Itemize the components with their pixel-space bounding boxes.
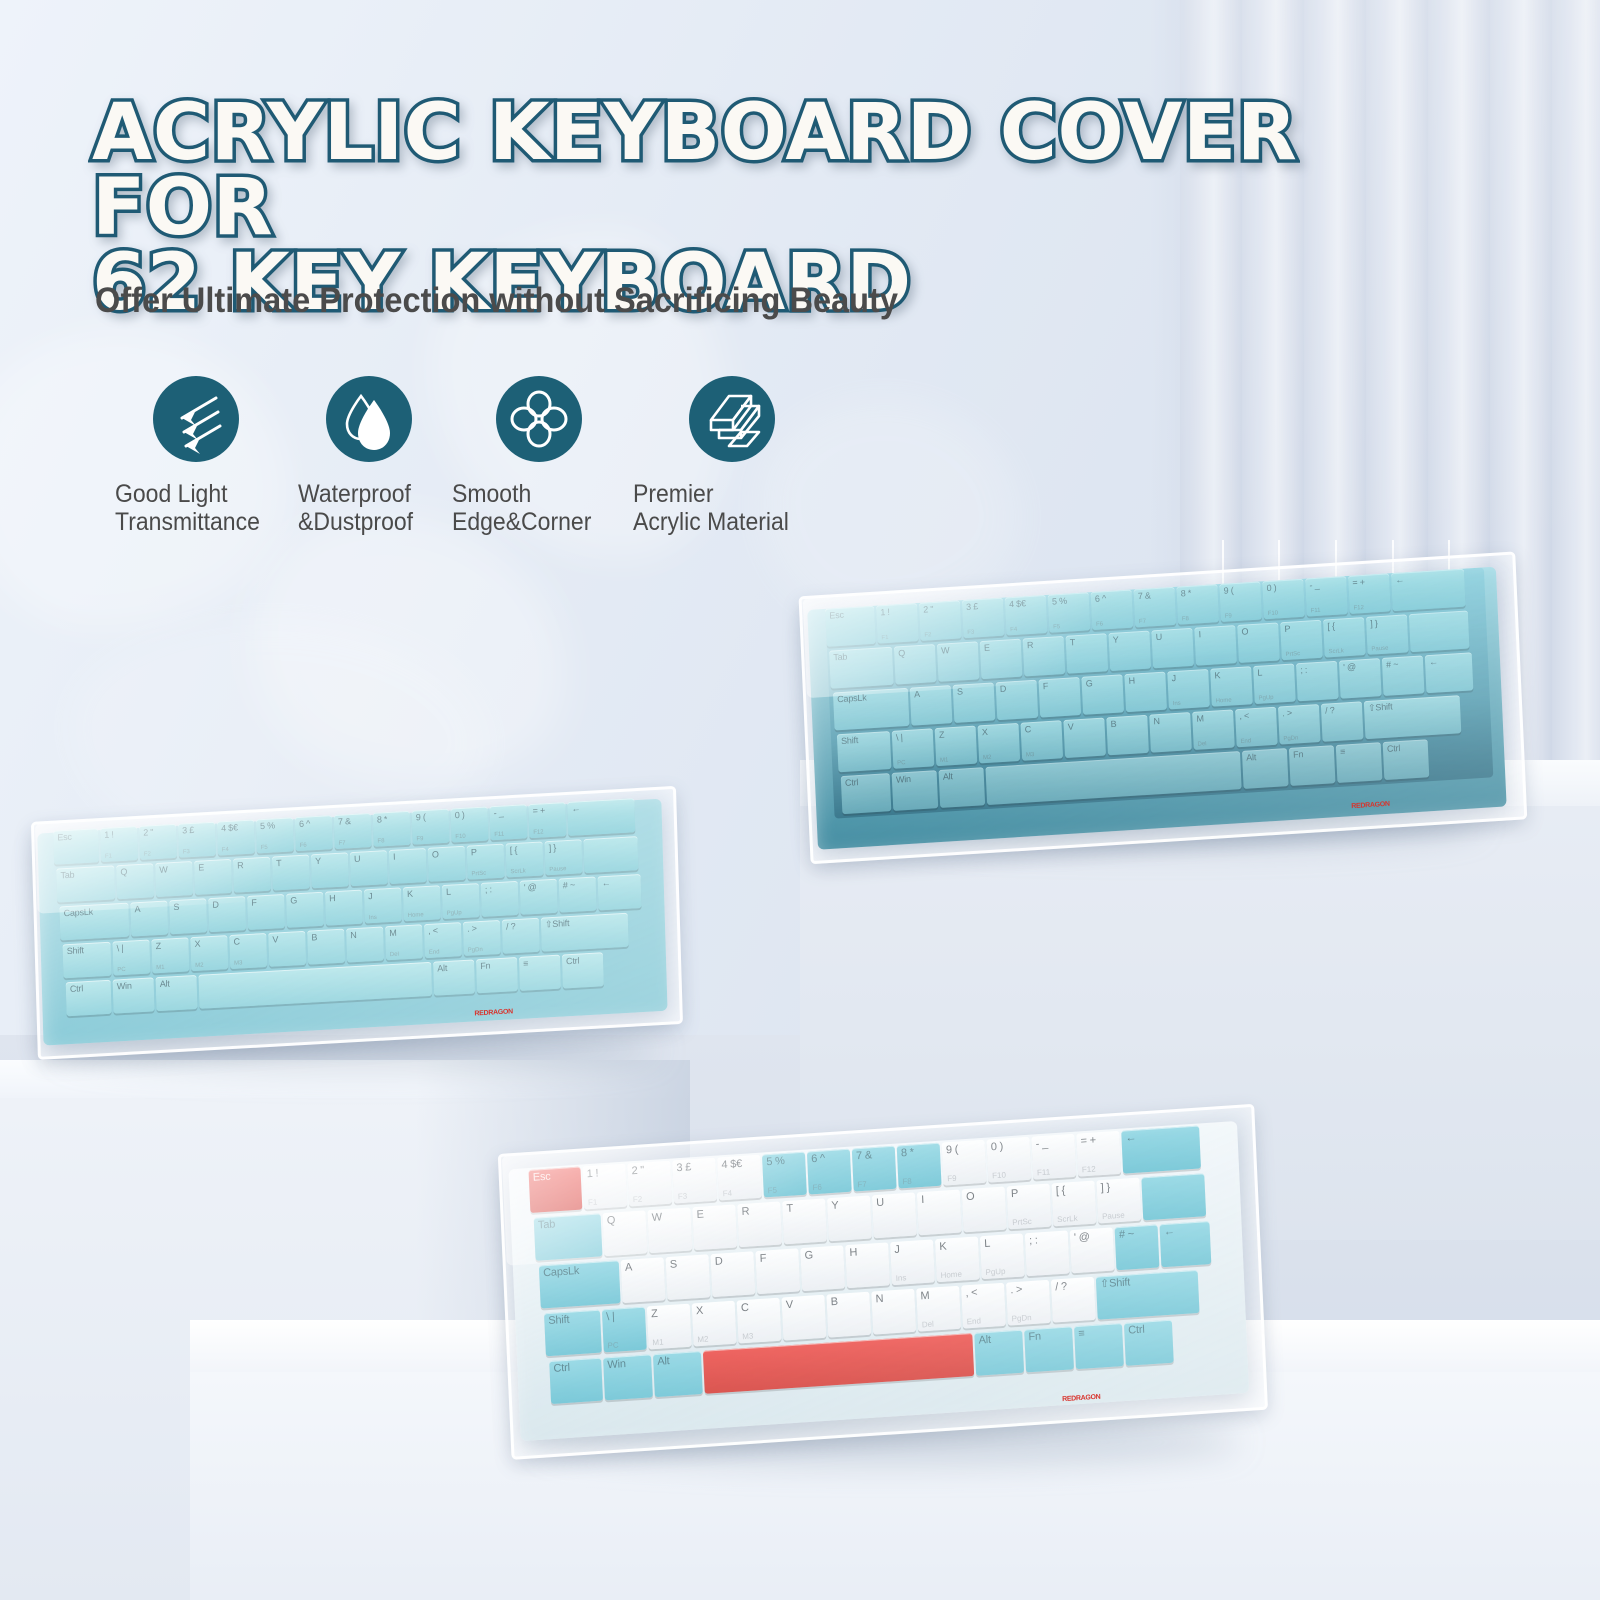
keycap-legend: S: [169, 900, 179, 913]
keycap[interactable]: 4 $€F4: [1005, 595, 1048, 636]
keycap-legend: ←: [567, 801, 580, 814]
keycap[interactable]: . >PgDn: [1006, 1280, 1051, 1326]
keycap[interactable]: . >PgDn: [1278, 704, 1321, 745]
keycap[interactable]: ; :: [1296, 661, 1339, 702]
keycap[interactable]: G: [286, 892, 324, 928]
keycap[interactable]: Ctrl: [841, 773, 892, 814]
keycap[interactable]: Alt: [974, 1330, 1024, 1376]
keycap-legend: / ?: [502, 919, 516, 932]
keycap-legend: I: [1194, 627, 1201, 639]
keycap[interactable]: Tab: [56, 865, 115, 902]
keycap[interactable]: Ctrl: [562, 952, 604, 988]
keycap-legend: U: [1151, 630, 1162, 643]
keycap[interactable]: - _F11: [1031, 1134, 1076, 1180]
keycap[interactable]: Alt: [653, 1351, 703, 1397]
keycap[interactable]: [1141, 1173, 1206, 1220]
keycap[interactable]: O: [428, 846, 466, 882]
keycap[interactable]: [ {ScrLk: [1052, 1181, 1097, 1227]
keycap[interactable]: [583, 836, 638, 873]
keycap[interactable]: E: [692, 1204, 737, 1250]
keycap[interactable]: D: [996, 680, 1039, 721]
keycap[interactable]: E: [980, 639, 1023, 680]
keycap[interactable]: CM3: [1020, 720, 1063, 761]
keycap[interactable]: 8 *F8: [897, 1143, 942, 1189]
keycap[interactable]: R: [1023, 636, 1066, 677]
keycap-sublegend: Del: [390, 952, 399, 959]
keycap[interactable]: [1409, 610, 1470, 652]
keycap[interactable]: ZM1: [647, 1304, 692, 1350]
keycap-legend: 0 ): [986, 1139, 1003, 1154]
keycap-legend: ←: [1121, 1130, 1136, 1145]
keycap[interactable]: = +F12: [1348, 573, 1391, 614]
keycap[interactable]: Fn: [1289, 745, 1336, 786]
keycap[interactable]: ' @: [520, 879, 558, 915]
keycap[interactable]: XM2: [190, 935, 228, 971]
keycap[interactable]: ←: [1391, 569, 1466, 612]
keycap-legend: G: [1081, 676, 1092, 689]
keycap[interactable]: ⇧Shift: [541, 913, 629, 952]
keycap[interactable]: D: [710, 1251, 755, 1297]
keycap-legend: Tab: [534, 1216, 556, 1231]
keycap-legend: F: [755, 1250, 766, 1265]
keycap-legend: A: [910, 687, 920, 700]
keyboard-left-mint[interactable]: Esc1 !F12 "F23 £F34 $€F45 %F56 ^F67 &F78…: [27, 782, 683, 1068]
keycap[interactable]: Y: [311, 852, 349, 888]
keycap-sublegend: Ins: [896, 1273, 907, 1283]
keycap-legend: Win: [113, 979, 132, 992]
keycap[interactable]: Shift: [544, 1310, 602, 1357]
keycap[interactable]: ZM1: [935, 726, 978, 767]
keycap[interactable]: Y: [827, 1195, 872, 1241]
keycap-legend: ' @: [520, 880, 537, 893]
keycap[interactable]: XM2: [692, 1301, 737, 1347]
keycap[interactable]: # ~: [1382, 655, 1425, 696]
keycap[interactable]: G: [1081, 674, 1124, 715]
keycap[interactable]: T: [272, 854, 310, 890]
keycap[interactable]: Alt: [1242, 748, 1289, 789]
keycap-legend: 8 *: [373, 812, 388, 825]
keycap[interactable]: 5 %F5: [256, 817, 294, 853]
keycap[interactable]: CapsLk: [833, 688, 910, 731]
keycap-sublegend: M3: [234, 960, 243, 966]
keycap-legend: Ctrl: [66, 981, 84, 994]
keycap[interactable]: O: [962, 1187, 1007, 1233]
keycap[interactable]: MDel: [385, 924, 423, 960]
keycap[interactable]: ZM1: [151, 937, 189, 973]
keycap[interactable]: W: [937, 641, 980, 682]
keycap[interactable]: PPrtSc: [1280, 620, 1323, 661]
keycap[interactable]: , <End: [424, 922, 462, 958]
keycap-legend: Alt: [156, 976, 170, 989]
keycap-legend: N: [1149, 714, 1160, 727]
keycap[interactable]: ] }Pause: [545, 839, 583, 875]
keycap-legend: P: [467, 845, 477, 858]
keycap-legend: C: [737, 1300, 749, 1315]
keycap-legend: 3 £: [962, 599, 978, 612]
keycap-legend: ; :: [481, 882, 492, 895]
keycap-legend: A: [130, 902, 140, 915]
keycap[interactable]: H: [1124, 672, 1167, 713]
keycap-sublegend: F8: [377, 838, 384, 844]
keycap[interactable]: Win: [892, 770, 939, 811]
keycap[interactable]: / ?: [502, 918, 540, 954]
keycap[interactable]: 5 %F5: [1048, 592, 1091, 633]
keycap[interactable]: 3 £F3: [672, 1158, 717, 1204]
keycap-legend: T: [1066, 635, 1076, 648]
keycap-legend: X: [978, 725, 988, 738]
keycap[interactable]: Alt: [939, 767, 986, 808]
keycap-legend: Q: [116, 865, 127, 878]
acrylic-sheets-icon: [689, 376, 775, 462]
keycap[interactable]: [198, 962, 432, 1009]
keycap[interactable]: E: [194, 859, 232, 895]
keycap-legend: J: [1167, 671, 1176, 684]
keycap-sublegend: M1: [156, 965, 165, 971]
keycap[interactable]: ; :: [481, 881, 519, 917]
keycap[interactable]: [ {ScrLk: [1323, 617, 1366, 658]
keycap[interactable]: ] }Pause: [1366, 614, 1409, 655]
keycap-legend: Tab: [56, 868, 74, 881]
keycap-legend: W: [937, 643, 950, 656]
keycap[interactable]: ←: [1159, 1221, 1211, 1267]
keycap[interactable]: 6 ^F6: [807, 1149, 852, 1195]
keycap[interactable]: I: [389, 848, 427, 884]
keycap[interactable]: CapsLk: [59, 903, 129, 941]
keycap[interactable]: S: [953, 682, 996, 723]
keycap[interactable]: PPrtSc: [1007, 1184, 1052, 1230]
keycap[interactable]: Shift: [63, 942, 112, 979]
keycap-sublegend: Pause: [549, 866, 566, 873]
keycap[interactable]: / ?: [1051, 1277, 1096, 1323]
keycap-legend: R: [1023, 638, 1034, 651]
keycap-sublegend: F11: [1311, 608, 1321, 615]
keycap[interactable]: A: [130, 900, 168, 936]
keycap[interactable]: Ctrl: [1124, 1320, 1174, 1366]
keycap[interactable]: CM3: [737, 1298, 782, 1344]
keycap[interactable]: S: [169, 898, 207, 934]
keycap[interactable]: U: [1151, 628, 1194, 669]
feature-label-line1: Waterproof: [298, 480, 411, 508]
keycap[interactable]: Q: [116, 863, 154, 899]
keycap[interactable]: LPgUp: [442, 883, 480, 919]
keycap[interactable]: N: [346, 926, 384, 962]
keycap-sublegend: PgDn: [1283, 735, 1298, 742]
keycap-legend: B: [826, 1294, 838, 1309]
keycap[interactable]: ≡: [1336, 742, 1383, 783]
keycap-legend: ' @: [1339, 660, 1356, 673]
keycap-sublegend: PrtSc: [1012, 1217, 1032, 1227]
keycap[interactable]: ≡: [519, 955, 561, 991]
keycap[interactable]: KHome: [1210, 666, 1253, 707]
keycap-legend: , <: [961, 1285, 978, 1300]
keycap[interactable]: 8 *F8: [373, 811, 411, 847]
keycap[interactable]: F: [755, 1248, 800, 1294]
keycap-legend: 4 $€: [217, 820, 238, 833]
keycap-legend: S: [953, 684, 963, 697]
keycap[interactable]: Q: [603, 1210, 648, 1256]
keycap-legend: \ |: [112, 941, 123, 954]
keycap-legend: ≡: [519, 956, 528, 969]
keycap[interactable]: 1 !F1: [100, 826, 138, 862]
keycap-legend: . >: [463, 921, 477, 934]
keycap-sublegend: Del: [922, 1320, 934, 1330]
keycap[interactable]: B: [826, 1292, 871, 1338]
keycap-legend: ] }: [1366, 616, 1378, 629]
keycap[interactable]: Esc: [528, 1167, 582, 1213]
keycap[interactable]: Fn: [476, 957, 518, 993]
keycap[interactable]: Esc: [53, 828, 99, 865]
keycap[interactable]: 5 %F5: [762, 1152, 807, 1198]
keycap-sublegend: F2: [924, 632, 931, 638]
keycap[interactable]: ≡: [1074, 1323, 1124, 1369]
keycap[interactable]: R: [737, 1201, 782, 1247]
keycap-legend: [ {: [1052, 1183, 1066, 1198]
keycap-sublegend: F11: [494, 832, 504, 839]
keycap[interactable]: - _F11: [1305, 576, 1348, 617]
keycap-sublegend: Home: [1216, 697, 1232, 704]
keycap[interactable]: A: [621, 1257, 666, 1303]
keycap-legend: C: [1020, 722, 1031, 735]
keycap[interactable]: ' @: [1339, 658, 1382, 699]
keycap-legend: ] }: [1096, 1180, 1110, 1195]
keycap-legend: K: [1210, 668, 1220, 681]
keycap[interactable]: CM3: [229, 933, 267, 969]
keycap-sublegend: Del: [1197, 741, 1206, 748]
keycap[interactable]: 3 £F3: [178, 822, 216, 858]
keycap[interactable]: LPgUp: [1253, 663, 1296, 704]
keycap-sublegend: M2: [195, 963, 204, 969]
keycap[interactable]: Ctrl: [549, 1358, 603, 1404]
keycap[interactable]: H: [325, 890, 363, 926]
keycap[interactable]: U: [350, 850, 388, 886]
keycap[interactable]: N: [1149, 712, 1192, 753]
keycap[interactable]: JIns: [364, 887, 402, 923]
keycap[interactable]: XM2: [978, 723, 1021, 764]
keycap-legend: J: [364, 889, 373, 901]
feature-label-line2: Edge&Corner: [452, 508, 591, 536]
keyboard-bottom-white-red[interactable]: Esc1 !F12 "F23 £F34 $€F45 %F56 ^F67 &F78…: [494, 1100, 1267, 1470]
keycap-sublegend: End: [967, 1316, 982, 1326]
keycap[interactable]: - _F11: [489, 804, 527, 840]
keycap-legend: R: [233, 858, 244, 871]
keycap[interactable]: , <End: [1235, 707, 1278, 748]
keycap[interactable]: \ |PC: [892, 728, 935, 769]
keycap[interactable]: 7 &F7: [334, 813, 372, 849]
keycap[interactable]: \ |PC: [602, 1307, 647, 1353]
keycap-legend: O: [1237, 624, 1248, 637]
keycap-sublegend: F3: [183, 849, 190, 855]
keycap[interactable]: 0 )F10: [451, 806, 489, 842]
keycap-legend: Fn: [1289, 747, 1304, 760]
keycap[interactable]: ⇧Shift: [1096, 1270, 1200, 1320]
keycap[interactable]: Ctrl: [1383, 739, 1430, 780]
keycap[interactable]: 2 "F2: [139, 824, 177, 860]
keycap-legend: Esc: [53, 830, 72, 843]
keycap[interactable]: Ctrl: [66, 980, 112, 1017]
keycap[interactable]: . >PgDn: [463, 920, 501, 956]
keycap[interactable]: R: [233, 857, 271, 893]
keycap[interactable]: V: [781, 1295, 826, 1341]
keycap-sublegend: F7: [338, 840, 345, 846]
keycap-legend: Y: [827, 1198, 839, 1213]
keycap-legend: 5 %: [256, 818, 275, 831]
feature-premier-acrylic-material: Premier Acrylic Material: [633, 376, 802, 537]
title-line-1: ACRYLIC KEYBOARD COVER FOR: [92, 96, 1352, 246]
keycap-sublegend: F7: [1139, 619, 1146, 625]
feature-good-light-transmittance: Good Light Transmittance: [115, 376, 272, 537]
keycap[interactable]: 9 (F9: [942, 1140, 987, 1186]
keycap[interactable]: ] }Pause: [1096, 1178, 1141, 1224]
keycap[interactable]: V: [268, 931, 306, 967]
keycap[interactable]: , <End: [961, 1283, 1006, 1329]
keycap-legend: CapsLk: [833, 690, 867, 704]
keycap-sublegend: Ins: [369, 915, 377, 921]
keycap-sublegend: Ins: [1173, 701, 1181, 707]
keycap-sublegend: F3: [967, 630, 974, 636]
keycap[interactable]: G: [800, 1245, 845, 1291]
feature-label-line2: Transmittance: [115, 508, 260, 536]
keycap-legend: E: [194, 860, 204, 873]
keycap[interactable]: 0 )F10: [1262, 579, 1305, 620]
keycap[interactable]: [ {ScrLk: [506, 841, 544, 877]
keycap[interactable]: Q: [894, 644, 937, 685]
keycap[interactable]: I: [917, 1190, 962, 1236]
keycap-legend: 7 &: [1134, 588, 1151, 601]
keycap[interactable]: Win: [603, 1354, 653, 1400]
keycap[interactable]: ⇧Shift: [1364, 695, 1462, 739]
keycap[interactable]: N: [871, 1289, 916, 1335]
keycap[interactable]: I: [1194, 625, 1237, 666]
keycap-sublegend: M2: [697, 1334, 709, 1344]
keycap[interactable]: 3 £F3: [962, 598, 1005, 639]
keycap[interactable]: Tab: [829, 647, 894, 689]
keycap-legend: CapsLk: [539, 1263, 580, 1280]
keycap[interactable]: D: [208, 896, 246, 932]
keycap[interactable]: / ?: [1321, 701, 1364, 742]
keycap[interactable]: T: [1066, 633, 1109, 674]
keycap[interactable]: Alt: [156, 975, 198, 1011]
keycap-legend: P: [1280, 622, 1290, 635]
keycap[interactable]: ; :: [1025, 1230, 1070, 1276]
keycap-legend: 1 !: [582, 1165, 598, 1180]
keycap-legend: ≡: [1074, 1326, 1085, 1341]
keycap[interactable]: ←: [598, 874, 642, 910]
keycap[interactable]: Y: [1108, 631, 1151, 672]
keycap-sublegend: F11: [1037, 1167, 1051, 1177]
keycap-sublegend: F3: [678, 1192, 688, 1202]
keycap[interactable]: A: [910, 685, 953, 726]
keycap-legend: Y: [1108, 632, 1118, 645]
keycap[interactable]: W: [155, 861, 193, 897]
keycap[interactable]: MDel: [916, 1286, 961, 1332]
keycap-legend: D: [208, 898, 219, 911]
keycap-sublegend: F9: [947, 1174, 957, 1184]
keycap[interactable]: 7 &F7: [1134, 587, 1177, 628]
keycap[interactable]: KHome: [403, 885, 441, 921]
keycap[interactable]: Fn: [1024, 1326, 1074, 1372]
keycap-sublegend: End: [1240, 738, 1251, 745]
keycap[interactable]: # ~: [1115, 1224, 1160, 1270]
keycap[interactable]: 2 "F2: [919, 600, 962, 641]
keycap[interactable]: = +F12: [1076, 1131, 1121, 1177]
keycap[interactable]: 7 &F7: [852, 1146, 897, 1192]
keycap[interactable]: 2 "F2: [627, 1161, 672, 1207]
keycap[interactable]: ←: [1425, 652, 1474, 693]
keycap-legend: ←: [598, 876, 611, 889]
keycap[interactable]: 1 !F1: [582, 1164, 627, 1210]
keyboard-topright-gradient[interactable]: Esc1 !F12 "F23 £F34 $€F45 %F56 ^F67 &F78…: [794, 548, 1525, 873]
keycap[interactable]: JIns: [1167, 669, 1210, 710]
keycap-legend: 9 (: [1219, 583, 1233, 596]
keycap[interactable]: B: [307, 929, 345, 965]
keycap[interactable]: F: [247, 894, 285, 930]
keycap[interactable]: MDel: [1192, 709, 1235, 750]
keycap[interactable]: JIns: [890, 1239, 935, 1285]
keycap-legend: R: [737, 1204, 749, 1219]
keycap[interactable]: U: [872, 1192, 917, 1238]
keycap[interactable]: LPgUp: [980, 1233, 1025, 1279]
keycap[interactable]: B: [1106, 715, 1149, 756]
keycap[interactable]: 8 *F8: [1176, 584, 1219, 625]
keycap-legend: ] }: [545, 841, 557, 854]
keycap-legend: [ {: [506, 843, 518, 856]
keycap[interactable]: KHome: [935, 1236, 980, 1282]
keycap[interactable]: O: [1237, 622, 1280, 663]
keycap-sublegend: F9: [1225, 613, 1232, 619]
keycap-legend: ⇧Shift: [541, 916, 570, 930]
keycap[interactable]: Tab: [534, 1213, 603, 1260]
keycap[interactable]: Shift: [837, 731, 892, 772]
keycap[interactable]: 6 ^F6: [295, 815, 333, 851]
keycap[interactable]: ←: [567, 798, 635, 836]
keycap[interactable]: 9 (F9: [1219, 581, 1262, 622]
keycap[interactable]: 4 $€F4: [217, 819, 255, 855]
keycap[interactable]: Win: [113, 977, 155, 1013]
keycap[interactable]: 1 !F1: [876, 603, 919, 644]
keycap-legend: Shift: [63, 943, 84, 956]
keycap[interactable]: = +F12: [528, 802, 566, 838]
keycap-legend: 7 &: [334, 814, 351, 827]
keycap-legend: 3 £: [178, 823, 194, 836]
keycap[interactable]: W: [647, 1207, 692, 1253]
feature-waterproof-dustproof: Waterproof &Dustproof: [298, 376, 423, 537]
keycap[interactable]: 9 (F9: [412, 809, 450, 845]
water-droplet-icon: [326, 376, 412, 462]
keycap[interactable]: F: [1039, 677, 1082, 718]
keycap[interactable]: V: [1063, 718, 1106, 759]
keycap-legend: P: [1007, 1186, 1019, 1201]
keycap[interactable]: CapsLk: [539, 1260, 621, 1308]
keycap-legend: H: [1124, 674, 1135, 687]
keycap[interactable]: \ |PC: [112, 939, 150, 975]
keycap-legend: 1 !: [876, 605, 890, 618]
keycap[interactable]: # ~: [559, 876, 597, 912]
keycap[interactable]: PPrtSc: [467, 844, 505, 880]
keycap[interactable]: T: [782, 1198, 827, 1244]
keycap[interactable]: S: [666, 1254, 711, 1300]
keycap[interactable]: ←: [1121, 1126, 1201, 1174]
keycap[interactable]: H: [845, 1242, 890, 1288]
keycap[interactable]: 4 $€F4: [717, 1155, 762, 1201]
keycap-sublegend: F1: [881, 635, 888, 641]
keycap[interactable]: Esc: [825, 606, 876, 647]
keycap-legend: - _: [1305, 578, 1319, 591]
keycap[interactable]: 0 )F10: [986, 1137, 1031, 1183]
keycap[interactable]: 6 ^F6: [1091, 590, 1134, 631]
keycap[interactable]: ' @: [1070, 1227, 1115, 1273]
keycap-sublegend: Pause: [1371, 646, 1388, 653]
keycap[interactable]: Alt: [433, 959, 475, 995]
